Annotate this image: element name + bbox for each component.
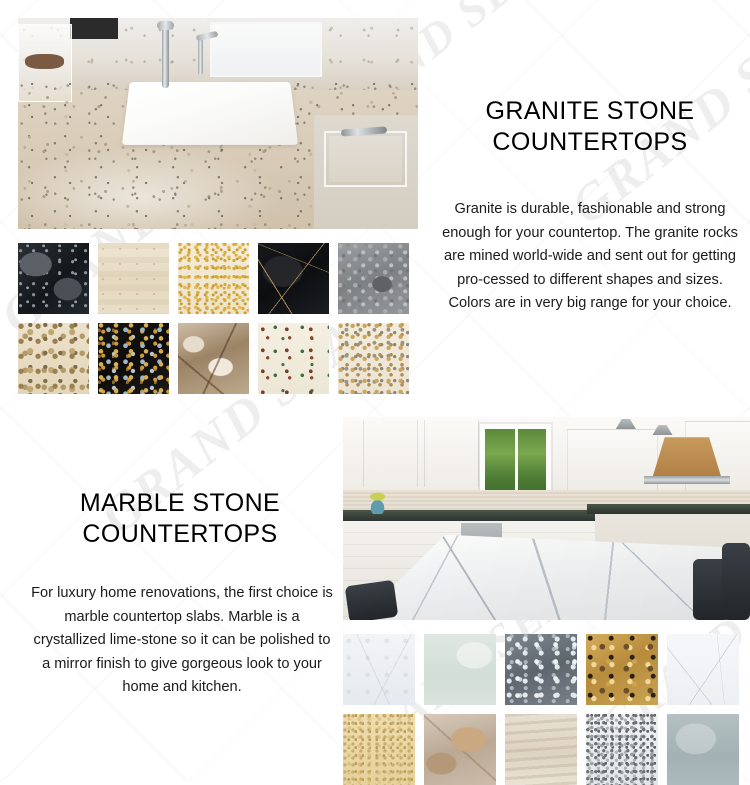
sand-quartz-swatch[interactable]: Sand Quartz [343,714,415,785]
gold-granite-swatch[interactable]: Gold Granite [586,634,658,705]
blue-grey-quartz-swatch[interactable]: Blue Grey Quartz [667,714,739,785]
white-quartz-swatch[interactable]: White Quartz [343,634,415,705]
black-speck-granite-swatch[interactable]: Black Speck Granite [98,323,169,394]
cream-granite-swatch[interactable]: Cream Granite [338,323,409,394]
dark-window-panel [70,18,118,39]
gold-speck-swatch[interactable]: Gold Speck Quartz [178,243,249,314]
side-sprayer [198,37,203,75]
marble-section-title: MARBLE STONE COUNTERTOPS [20,488,340,550]
brown-onyx-swatch[interactable]: Brown Onyx [424,714,496,785]
white-vein-marble-swatch[interactable]: White Vein Marble [667,634,739,705]
kitchen-faucet [162,24,169,87]
granite-section-body: Granite is durable, fashionable and stro… [436,198,744,316]
base-cabinet [314,115,418,229]
product-description-page: GRAND SEA GRAND SEA GRAND SEA GRAND SEA … [0,0,750,781]
beige-travertine-swatch[interactable]: Beige Travertine [98,243,169,314]
range-hood-lip [644,476,729,484]
brown-marble-swatch[interactable]: Brown Marble [178,323,249,394]
white-grey-granite-swatch[interactable]: White Grey Granite [586,714,658,785]
marble-title-line1: MARBLE STONE [20,488,340,519]
cabinet-handle [340,127,386,137]
beige-granite-swatch[interactable]: Beige Granite [18,323,89,394]
pale-green-marble-swatch[interactable]: Pale Green Marble [424,634,496,705]
grey-granite-swatch[interactable]: Grey Granite [338,243,409,314]
granite-title-line2: COUNTERTOPS [430,127,750,158]
cabinet-panel [324,131,407,187]
marble-swatch-grid: White Quartz Pale Green Marble Grey Spec… [343,634,739,785]
undermount-sink [122,82,298,145]
black-granite-swatch[interactable]: Black Granite [18,243,89,314]
granite-section-title: GRANITE STONE COUNTERTOPS [430,96,750,158]
bar-stool [345,580,398,620]
bar-stool [722,543,750,620]
marble-title-line2: COUNTERTOPS [20,519,340,550]
kitchen-window [210,22,322,77]
marble-kitchen-island-photo: marble-kitchen-island-photo [343,417,750,620]
black-marble-swatch[interactable]: Black Gold Marble [258,243,329,314]
granite-title-line1: GRANITE STONE [430,96,750,127]
cream-confetti-swatch[interactable]: Cream Confetti [258,323,329,394]
grey-speck-granite-swatch[interactable]: Grey Speck Granite [505,634,577,705]
potted-plant [359,490,396,514]
kitchen-window [485,429,546,498]
wood-vein-marble-swatch[interactable]: Wood Vein Marble [505,714,577,785]
granite-kitchen-sink-photo: granite-kitchen-sink-photo [18,18,418,229]
marble-section-body: For luxury home renovations, the first c… [28,582,336,700]
perimeter-countertop [587,504,750,514]
granite-swatch-grid: Black Granite Beige Travertine Gold Spec… [18,243,409,394]
